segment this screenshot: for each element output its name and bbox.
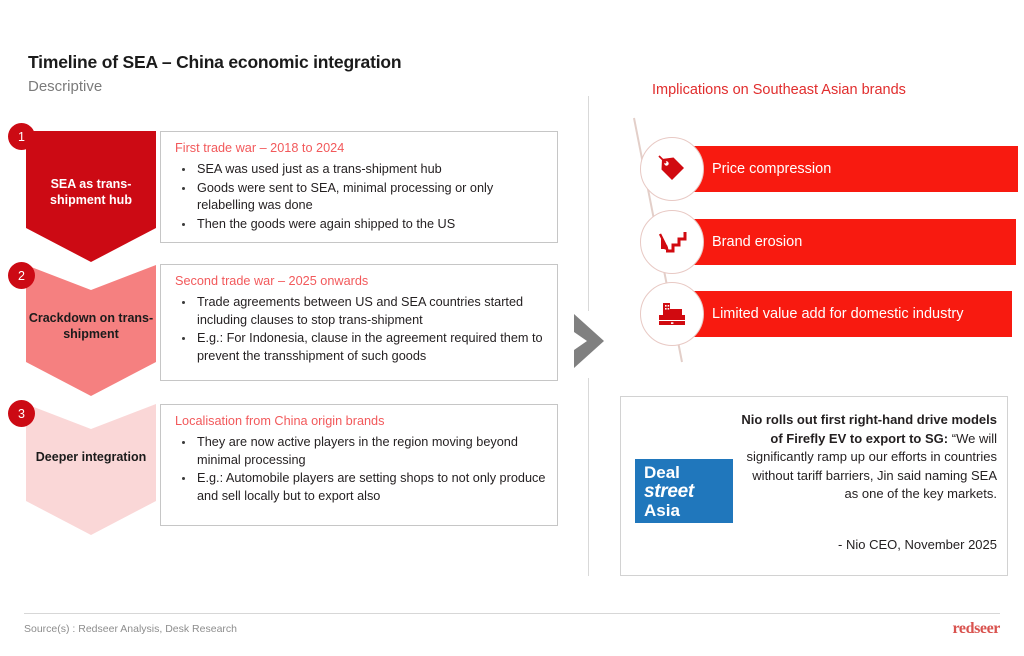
vertical-divider-top [588,96,589,311]
implication-label-2: Brand erosion [712,233,802,251]
step-card-heading-3: Localisation from China origin brands [175,414,384,428]
price-tag-icon [640,137,704,201]
step-badge-1: 1 [8,123,35,150]
descending-stairs-icon [640,210,704,274]
step-chevron-2: Crackdown on trans-shipment [26,265,156,396]
step-badge-2: 2 [8,262,35,289]
vertical-divider-bottom [588,378,589,576]
step-chevron-1: SEA as trans-shipment hub [26,131,156,262]
page-subtitle: Descriptive [28,78,102,95]
redseer-logo: redseer [952,620,1000,638]
step-card-1: First trade war – 2018 to 2024 SEA was u… [160,131,558,243]
list-item: E.g.: For Indonesia, clause in the agree… [175,330,547,365]
quote-text-block: Nio rolls out first right-hand drive mod… [739,411,997,504]
logo-line-3: Asia [644,502,733,520]
list-item: SEA was used just as a trans-shipment hu… [175,161,547,179]
slide-root: Timeline of SEA – China economic integra… [0,0,1024,656]
step-card-heading-1: First trade war – 2018 to 2024 [175,141,344,155]
footer-divider [24,613,1000,614]
step-card-3: Localisation from China origin brands Th… [160,404,558,526]
quote-box: Deal street Asia Nio rolls out first rig… [620,396,1008,576]
step-bullet-list-3: They are now active players in the regio… [175,434,547,506]
implication-bar-1[interactable]: Price compression [680,146,1018,192]
step-chevron-label-1: SEA as trans-shipment hub [26,177,156,208]
list-item: Then the goods were again shipped to the… [175,216,547,234]
step-card-heading-2: Second trade war – 2025 onwards [175,274,368,288]
implication-bar-2[interactable]: Brand erosion [680,219,1016,265]
logo-line-1: Deal [644,464,733,482]
implication-label-1: Price compression [712,160,831,178]
implication-label-3: Limited value add for domestic industry [712,306,963,323]
list-item: Trade agreements between US and SEA coun… [175,294,547,329]
source-note: Source(s) : Redseer Analysis, Desk Resea… [24,623,237,635]
quote-attribution: - Nio CEO, November 2025 [739,537,997,552]
implications-title: Implications on Southeast Asian brands [652,82,906,98]
step-bullet-list-2: Trade agreements between US and SEA coun… [175,294,547,366]
list-item: E.g.: Automobile players are setting sho… [175,470,547,505]
step-card-2: Second trade war – 2025 onwards Trade ag… [160,264,558,381]
step-badge-3: 3 [8,400,35,427]
logo-line-2: street [644,482,733,502]
chevron-right-arrow-icon [570,310,610,372]
step-chevron-3: Deeper integration [26,404,156,535]
page-title: Timeline of SEA – China economic integra… [28,52,401,73]
list-item: They are now active players in the regio… [175,434,547,469]
factory-icon [640,282,704,346]
step-chevron-label-3: Deeper integration [26,450,156,466]
step-bullet-list-1: SEA was used just as a trans-shipment hu… [175,161,547,234]
implication-bar-3[interactable]: Limited value add for domestic industry [680,291,1012,337]
dealstreetasia-logo: Deal street Asia [635,459,733,523]
step-chevron-label-2: Crackdown on trans-shipment [26,311,156,342]
list-item: Goods were sent to SEA, minimal processi… [175,180,547,215]
